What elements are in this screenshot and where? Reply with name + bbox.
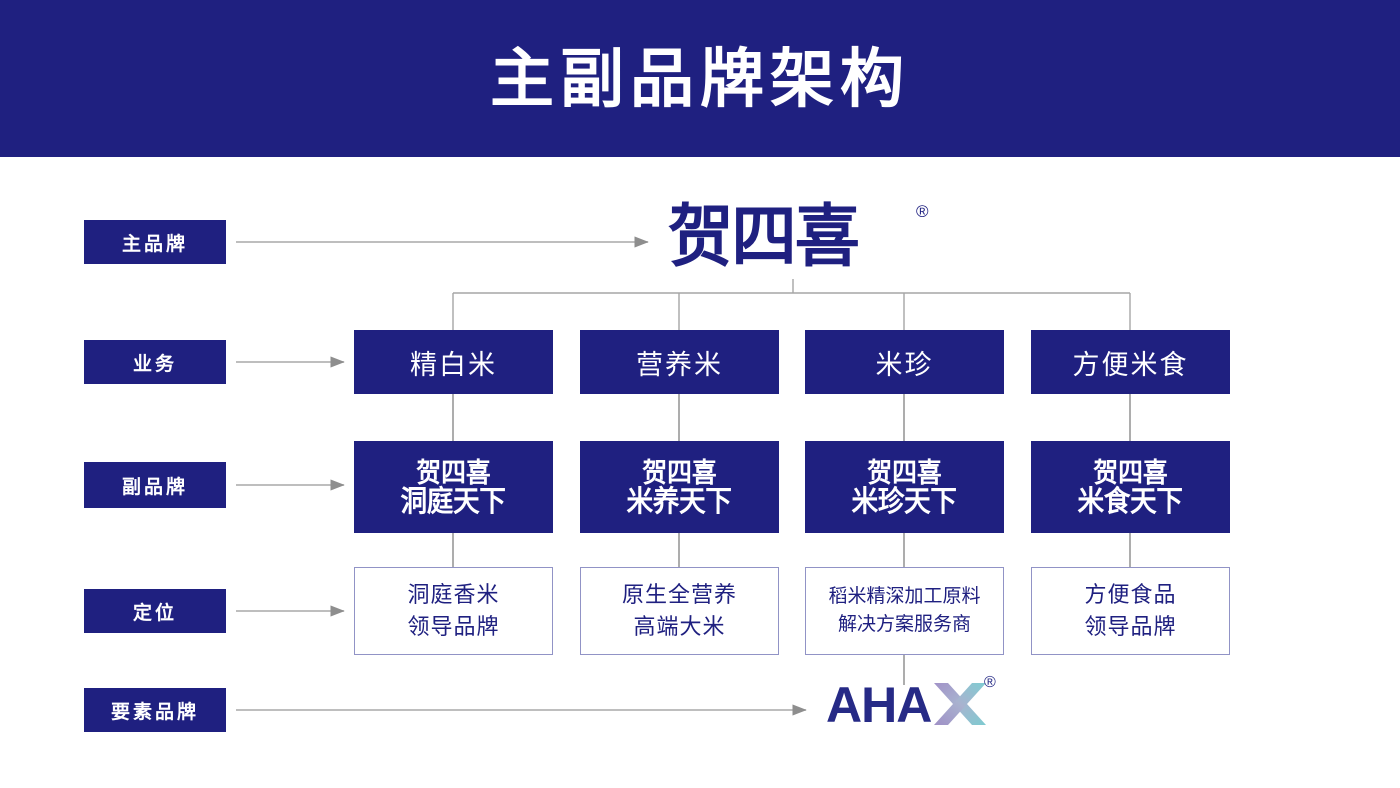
sub-brand-line-2: 米珍天下 [852, 487, 957, 517]
sub-brand-box-1[interactable]: 贺四喜 洞庭天下 [354, 441, 553, 533]
positioning-box-1[interactable]: 洞庭香米 领导品牌 [354, 567, 553, 655]
positioning-box-2[interactable]: 原生全营养 高端大米 [580, 567, 779, 655]
positioning-line-2: 领导品牌 [407, 611, 499, 643]
master-brand-logo[interactable]: 贺四喜 ® [668, 197, 958, 277]
master-brand-name: 贺四喜 [668, 197, 858, 277]
positioning-box-3[interactable]: 稻米精深加工原料 解决方案服务商 [805, 567, 1004, 655]
sub-brand-box-2[interactable]: 贺四喜 米养天下 [580, 441, 779, 533]
sub-brand-line-1: 贺四喜 [416, 459, 491, 487]
row-label-text: 业务 [133, 349, 177, 376]
sub-brand-box-4[interactable]: 贺四喜 米食天下 [1031, 441, 1230, 533]
business-box-1[interactable]: 精白米 [354, 330, 553, 394]
positioning-line-1: 方便食品 [1084, 579, 1176, 611]
sub-brand-line-2: 米养天下 [627, 487, 732, 517]
element-brand-logo[interactable]: AHA ® [826, 675, 1006, 735]
row-label-text: 主品牌 [122, 229, 188, 256]
sub-brand-line-1: 贺四喜 [867, 459, 942, 487]
registered-trademark-icon: ® [916, 203, 929, 220]
row-label-business[interactable]: 业务 [84, 340, 226, 384]
positioning-box-4[interactable]: 方便食品 领导品牌 [1031, 567, 1230, 655]
row-label-text: 要素品牌 [111, 697, 199, 724]
business-box-4[interactable]: 方便米食 [1031, 330, 1230, 394]
row-label-element-brand[interactable]: 要素品牌 [84, 688, 226, 732]
element-brand-name: AHA [826, 677, 931, 733]
positioning-line-1: 原生全营养 [622, 579, 737, 611]
row-label-master-brand[interactable]: 主品牌 [84, 220, 226, 264]
business-box-2[interactable]: 营养米 [580, 330, 779, 394]
registered-trademark-icon: ® [984, 675, 996, 691]
page-title: 主副品牌架构 [0, 0, 1400, 157]
ahax-x-mark-icon [932, 681, 988, 729]
positioning-line-1: 稻米精深加工原料 [828, 583, 980, 611]
business-label: 米珍 [876, 343, 934, 382]
business-box-3[interactable]: 米珍 [805, 330, 1004, 394]
row-label-text: 定位 [133, 598, 177, 625]
positioning-line-2: 解决方案服务商 [838, 611, 971, 639]
brand-architecture-diagram: 主品牌 业务 副品牌 定位 要素品牌 贺四喜 ® 精白米 营养米 米珍 方便米食… [0, 157, 1400, 788]
sub-brand-line-2: 洞庭天下 [401, 487, 506, 517]
business-label: 营养米 [636, 343, 723, 382]
sub-brand-line-2: 米食天下 [1078, 487, 1183, 517]
positioning-line-2: 领导品牌 [1084, 611, 1176, 643]
row-label-sub-brand[interactable]: 副品牌 [84, 462, 226, 508]
positioning-line-2: 高端大米 [633, 611, 725, 643]
sub-brand-box-3[interactable]: 贺四喜 米珍天下 [805, 441, 1004, 533]
positioning-line-1: 洞庭香米 [407, 579, 499, 611]
sub-brand-line-1: 贺四喜 [1093, 459, 1168, 487]
row-label-text: 副品牌 [122, 472, 188, 499]
business-label: 方便米食 [1073, 343, 1189, 382]
sub-brand-line-1: 贺四喜 [642, 459, 717, 487]
business-label: 精白米 [410, 343, 497, 382]
row-label-positioning[interactable]: 定位 [84, 589, 226, 633]
